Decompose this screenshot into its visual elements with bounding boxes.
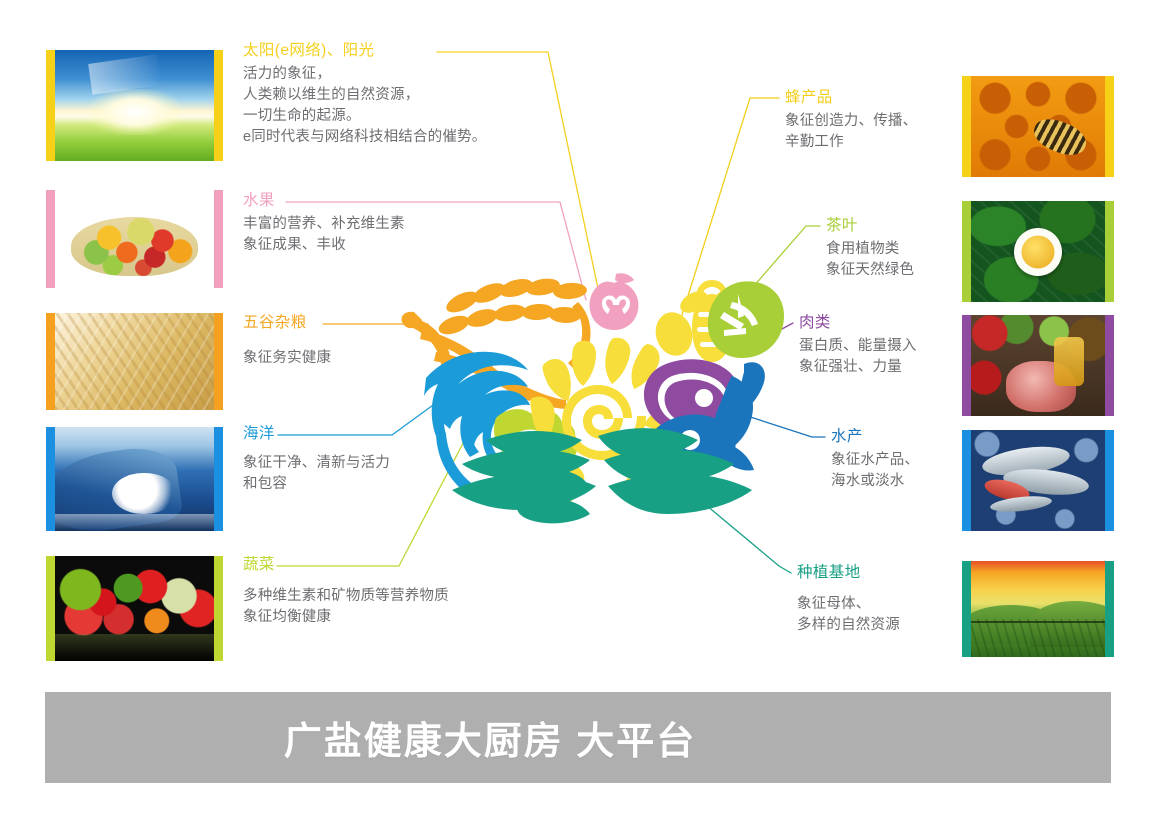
note-grain: 五谷杂粮 象征务实健康 xyxy=(243,313,331,369)
photo-accent-bar-right xyxy=(1105,315,1114,416)
note-title: 蜂产品 xyxy=(785,88,917,107)
note-title: 五谷杂粮 xyxy=(243,313,331,332)
note-line: 丰富的营养、补充维生素 xyxy=(243,214,405,235)
note-line: 象征干净、清新与活力 xyxy=(243,453,390,474)
note-line: 象征均衡健康 xyxy=(243,607,449,628)
sunrise-over-green-field-image xyxy=(55,50,214,161)
photo-accent-bar-left xyxy=(46,190,55,288)
photo-sun xyxy=(46,50,223,161)
note-title: 水果 xyxy=(243,191,405,210)
assorted-fresh-fruit-image xyxy=(55,190,214,288)
wheat-ears-image xyxy=(55,313,214,410)
photo-accent-bar-right xyxy=(214,556,223,661)
note-body: 象征母体、 多样的自然资源 xyxy=(797,594,900,636)
photo-accent-bar-left xyxy=(962,430,971,531)
note-line: 象征天然绿色 xyxy=(826,260,914,281)
note-line: 象征强壮、力量 xyxy=(799,357,917,378)
note-line: 象征母体、 xyxy=(797,594,900,615)
note-line: 辛勤工作 xyxy=(785,132,917,153)
photo-tea xyxy=(962,201,1114,302)
note-base: 种植基地 象征母体、 多样的自然资源 xyxy=(797,563,900,636)
photo-accent-bar-right xyxy=(1105,430,1114,531)
poster-canvas: 太阳(e网络)、阳光 活力的象征， 人类赖以维生的自然资源， 一切生命的起源。 … xyxy=(0,0,1160,820)
tea-cup-on-leaves-image xyxy=(971,201,1105,302)
apple-icon xyxy=(589,273,638,330)
photo-ocean xyxy=(46,427,223,531)
note-line: 象征成果、丰收 xyxy=(243,235,405,256)
photo-accent-bar-right xyxy=(1105,201,1114,302)
photo-accent-bar-right xyxy=(214,50,223,161)
photo-meat xyxy=(962,315,1114,416)
note-title: 种植基地 xyxy=(797,563,900,582)
note-body: 丰富的营养、补充维生素 象征成果、丰收 xyxy=(243,214,405,256)
photo-aquatic xyxy=(962,430,1114,531)
note-line: 蛋白质、能量摄入 xyxy=(799,336,917,357)
note-aquatic: 水产 象征水产品、 海水或淡水 xyxy=(831,427,919,492)
photo-accent-bar-left xyxy=(962,561,971,657)
note-meat: 肉类 蛋白质、能量摄入 象征强壮、力量 xyxy=(799,313,917,378)
photo-accent-bar-right xyxy=(214,190,223,288)
note-fruit: 水果 丰富的营养、补充维生素 象征成果、丰收 xyxy=(243,191,405,256)
note-sun: 太阳(e网络)、阳光 活力的象征， 人类赖以维生的自然资源， 一切生命的起源。 … xyxy=(243,41,486,148)
photo-accent-bar-right xyxy=(214,313,223,410)
photo-fruit xyxy=(46,190,223,288)
bottom-banner: 广盐健康大厨房 大平台 xyxy=(45,692,1111,783)
note-line: 和包容 xyxy=(243,474,390,495)
note-line: 象征创造力、传播、 xyxy=(785,111,917,132)
note-body: 象征水产品、 海水或淡水 xyxy=(831,450,919,492)
note-title: 水产 xyxy=(831,427,919,446)
photo-accent-bar-right xyxy=(1105,76,1114,177)
note-line: 多种维生素和矿物质等营养物质 xyxy=(243,586,449,607)
photo-accent-bar-left xyxy=(962,76,971,177)
note-bee: 蜂产品 象征创造力、传播、 辛勤工作 xyxy=(785,88,917,153)
photo-accent-bar-left xyxy=(46,427,55,531)
note-title: 肉类 xyxy=(799,313,917,332)
note-body: 活力的象征， 人类赖以维生的自然资源， 一切生命的起源。 e同时代表与网络科技相… xyxy=(243,64,486,148)
photo-accent-bar-left xyxy=(46,313,55,410)
note-line: 食用植物类 xyxy=(826,239,914,260)
raw-meat-and-vegetables-image xyxy=(971,315,1105,416)
note-line: 多样的自然资源 xyxy=(797,615,900,636)
note-line: 活力的象征， xyxy=(243,64,486,85)
fresh-vegetables-image xyxy=(55,556,214,661)
note-line: 海水或淡水 xyxy=(831,471,919,492)
banner-title: 广盐健康大厨房 大平台 xyxy=(284,710,697,765)
note-ocean: 海洋 象征干净、清新与活力 和包容 xyxy=(243,424,390,495)
food-bowl-emblem xyxy=(392,268,784,528)
note-line: e同时代表与网络科技相结合的催势。 xyxy=(243,127,486,148)
note-title: 蔬菜 xyxy=(243,555,449,574)
photo-base xyxy=(962,561,1114,657)
note-body: 食用植物类 象征天然绿色 xyxy=(826,239,914,281)
photo-accent-bar-left xyxy=(46,556,55,661)
ocean-wave-image xyxy=(55,427,214,531)
bee-on-honeycomb-image xyxy=(971,76,1105,177)
note-tea: 茶叶 食用植物类 象征天然绿色 xyxy=(826,216,914,281)
note-vegetable: 蔬菜 多种维生素和矿物质等营养物质 象征均衡健康 xyxy=(243,555,449,628)
photo-accent-bar-left xyxy=(46,50,55,161)
note-line: 人类赖以维生的自然资源， xyxy=(243,85,486,106)
note-line: 象征务实健康 xyxy=(243,348,331,369)
photo-grain xyxy=(46,313,223,410)
note-title: 海洋 xyxy=(243,424,390,443)
photo-accent-bar-right xyxy=(214,427,223,531)
tea-plantation-hills-image xyxy=(971,561,1105,657)
photo-accent-bar-left xyxy=(962,315,971,416)
fresh-fish-on-ice-image xyxy=(971,430,1105,531)
note-line: 一切生命的起源。 xyxy=(243,106,486,127)
note-title: 太阳(e网络)、阳光 xyxy=(243,41,486,60)
note-body: 多种维生素和矿物质等营养物质 象征均衡健康 xyxy=(243,586,449,628)
photo-accent-bar-right xyxy=(1105,561,1114,657)
note-body: 象征干净、清新与活力 和包容 xyxy=(243,453,390,495)
note-line: 象征水产品、 xyxy=(831,450,919,471)
note-body: 象征创造力、传播、 辛勤工作 xyxy=(785,111,917,153)
photo-bee xyxy=(962,76,1114,177)
photo-accent-bar-left xyxy=(962,201,971,302)
note-body: 象征务实健康 xyxy=(243,348,331,369)
photo-vegetable xyxy=(46,556,223,661)
note-title: 茶叶 xyxy=(826,216,914,235)
note-body: 蛋白质、能量摄入 象征强壮、力量 xyxy=(799,336,917,378)
